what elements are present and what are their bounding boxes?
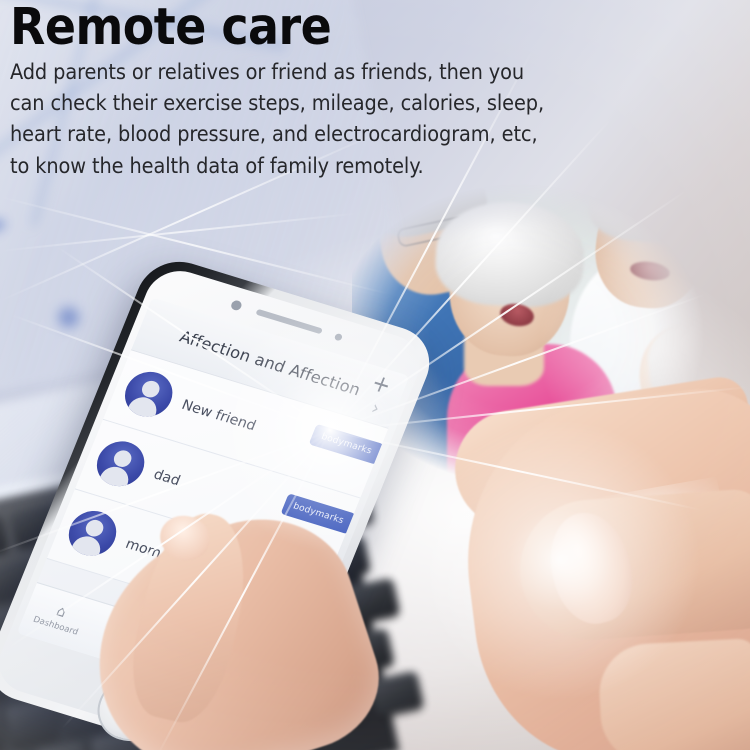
description-line: Add parents or relatives or friend as fr… [10,57,740,88]
banner-description: Add parents or relatives or friend as fr… [10,57,740,182]
bodymarks-button[interactable]: bodymarks [309,424,384,465]
page-title: Remote care [10,2,740,53]
avatar [62,505,123,561]
description-line: can check their exercise steps, mileage,… [10,88,740,119]
home-icon: ⌂ [54,604,68,620]
avatar [90,436,151,492]
description-line: heart rate, blood pressure, and electroc… [10,119,740,150]
right-hand-lower-finger [597,638,750,750]
description-line: to know the health data of family remote… [10,151,740,182]
banner-image: Affection and Affection + › New friend b… [0,0,750,750]
contact-name: dad [151,467,182,490]
contact-name: New friend [179,397,258,434]
banner-text: Remote care Add parents or relatives or … [10,0,740,182]
avatar [118,366,179,422]
